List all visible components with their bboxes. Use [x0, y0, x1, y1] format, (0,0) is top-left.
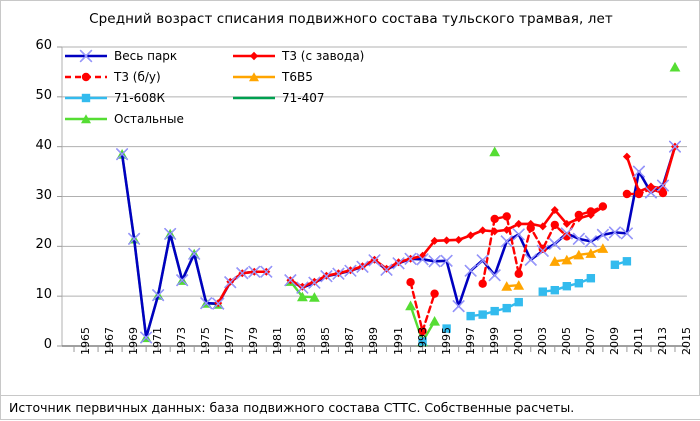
legend-label: 71-608К: [114, 91, 165, 105]
legend-label: Весь парк: [114, 49, 177, 63]
y-axis-tick-label: 10: [18, 287, 52, 302]
chart-container: Средний возраст списания подвижного сост…: [0, 0, 700, 420]
x-axis-tick-label: 2013: [656, 327, 669, 355]
legend-item-Т6В5[interactable]: Т6В5: [231, 70, 313, 84]
x-axis-tick-label: 1991: [392, 327, 405, 355]
x-axis-tick-label: 2015: [680, 327, 693, 355]
x-axis-tick-label: 1979: [247, 327, 260, 355]
y-axis-tick-label: 60: [18, 38, 52, 53]
legend-swatch-diamond-icon: [231, 49, 277, 63]
x-axis-tick-label: 1999: [488, 327, 501, 355]
legend-swatch-triangle-icon: [231, 70, 277, 84]
x-axis-tick-label: 1965: [79, 327, 92, 355]
x-axis-tick-label: 2011: [632, 327, 645, 355]
x-axis-tick-label: 1971: [151, 327, 164, 355]
x-axis-tick-label: 2003: [536, 327, 549, 355]
legend-swatch-none-icon: [231, 91, 277, 105]
x-axis-tick-label: 1975: [199, 327, 212, 355]
x-axis-tick-label: 1993: [416, 327, 429, 355]
x-axis-tick-label: 2009: [608, 327, 621, 355]
legend-item-Остальные[interactable]: Остальные: [63, 112, 184, 126]
x-axis-tick-label: 1981: [271, 327, 284, 355]
legend-item-Т3 (с завода)[interactable]: Т3 (с завода): [231, 49, 364, 63]
x-axis-tick-label: 1977: [223, 327, 236, 355]
x-axis-tick-label: 1995: [440, 327, 453, 355]
y-axis-tick-label: 50: [18, 88, 52, 103]
legend-label: Т6В5: [282, 70, 313, 84]
series-Весь парк: [116, 141, 680, 343]
x-axis-tick-label: 1967: [103, 327, 116, 355]
x-axis-tick-label: 1969: [127, 327, 140, 355]
legend-item-71-608К[interactable]: 71-608К: [63, 91, 165, 105]
legend-item-71-407[interactable]: 71-407: [231, 91, 325, 105]
x-axis-tick-label: 2007: [584, 327, 597, 355]
legend-swatch-x-icon: [63, 49, 109, 63]
y-axis-tick-label: 40: [18, 138, 52, 153]
source-note: Источник первичных данных: база подвижно…: [1, 395, 700, 419]
x-axis-tick-label: 1987: [343, 327, 356, 355]
legend-item-Т3 (б/у)[interactable]: Т3 (б/у): [63, 70, 161, 84]
legend-label: Т3 (с завода): [282, 49, 364, 63]
x-axis-tick-label: 1983: [295, 327, 308, 355]
series-vesparka-markers: [116, 141, 680, 343]
series-Т3 (с завода): [214, 143, 679, 307]
y-axis-tick-label: 30: [18, 188, 52, 203]
legend-item-Весь парк[interactable]: Весь парк: [63, 49, 177, 63]
y-axis-ticks: [57, 47, 62, 346]
x-axis-tick-label: 1985: [319, 327, 332, 355]
x-axis-tick-label: 1989: [367, 327, 380, 355]
x-axis-tick-label: 1997: [464, 327, 477, 355]
x-axis-tick-label: 1973: [175, 327, 188, 355]
x-axis-tick-label: 2005: [560, 327, 573, 355]
x-axis-tick-label: 2001: [512, 327, 525, 355]
chart-legend: Весь паркТ3 (с завода)Т3 (б/у)Т6В571-608…: [63, 49, 393, 131]
legend-label: Остальные: [114, 112, 184, 126]
y-axis-tick-label: 20: [18, 237, 52, 252]
legend-swatch-square-icon: [63, 91, 109, 105]
legend-swatch-circle-icon: [63, 70, 109, 84]
y-axis-tick-label: 0: [18, 337, 52, 352]
legend-label: Т3 (б/у): [114, 70, 161, 84]
legend-swatch-triangle-icon: [63, 112, 109, 126]
legend-label: 71-407: [282, 91, 325, 105]
